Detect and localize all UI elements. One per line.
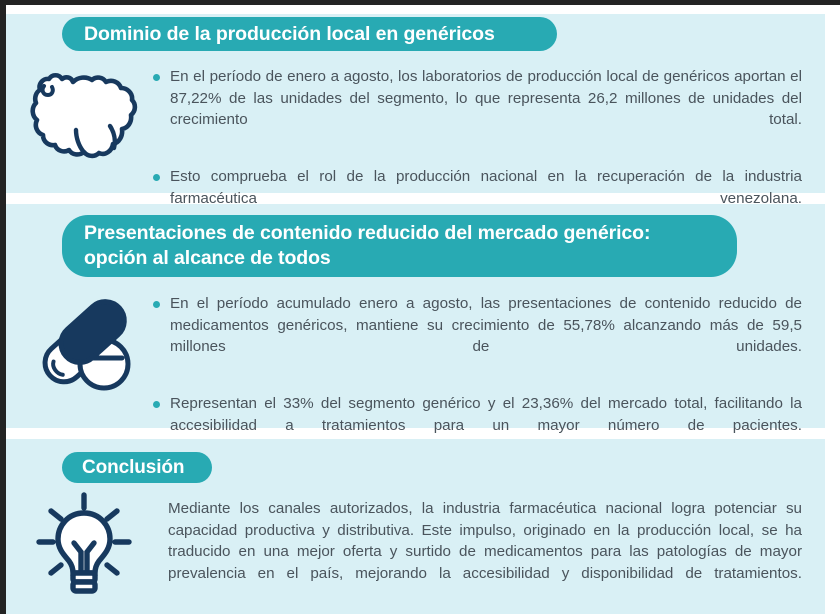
conclusion-paragraph: Mediante los canales autorizados, la ind… xyxy=(168,498,802,606)
bullet-item: Esto comprueba el rol de la producción n… xyxy=(150,166,802,231)
left-edge-bar xyxy=(0,0,6,614)
bullet-text: Esto comprueba el rol de la producción n… xyxy=(170,166,802,231)
section-body-presentaciones: En el período acumulado enero a agosto, … xyxy=(150,293,802,458)
section-title-text: Conclusión xyxy=(82,457,184,479)
bullet-dot-icon xyxy=(153,74,160,81)
infographic-page: Dominio de la producción local en genéri… xyxy=(0,0,840,614)
bullet-dot-icon xyxy=(153,401,160,408)
bullet-dot-icon xyxy=(153,301,160,308)
bullet-item: En el período de enero a agosto, los lab… xyxy=(150,66,802,152)
bullet-item: En el período acumulado enero a agosto, … xyxy=(150,293,802,379)
section-title-text: Dominio de la producción local en genéri… xyxy=(84,23,495,46)
lightbulb-idea-icon xyxy=(22,487,146,599)
section-body-conclusion: Mediante los canales autorizados, la ind… xyxy=(168,498,802,606)
bullet-text: Representan el 33% del segmento genérico… xyxy=(170,393,802,458)
section-body-dominio: En el período de enero a agosto, los lab… xyxy=(150,66,802,231)
venezuela-map-icon xyxy=(24,62,146,162)
bullet-text: En el período de enero a agosto, los lab… xyxy=(170,66,802,152)
bullet-text: En el período acumulado enero a agosto, … xyxy=(170,293,802,379)
section-title-badge-dominio: Dominio de la producción local en genéri… xyxy=(62,17,557,51)
bullet-dot-icon xyxy=(153,174,160,181)
bullet-item: Representan el 33% del segmento genérico… xyxy=(150,393,802,458)
section-title-text-line-2: opción al alcance de todos xyxy=(84,246,650,271)
pills-capsule-icon xyxy=(30,293,140,398)
top-edge-bar xyxy=(0,0,840,5)
